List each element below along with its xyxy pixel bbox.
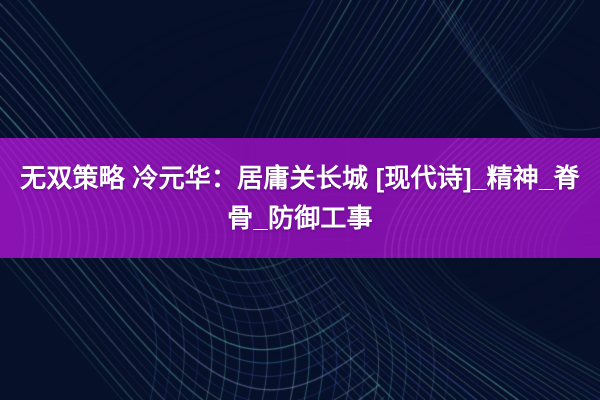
page-title-line-1: 无双策略 冷元华：居庸关长城 [现代诗]_精神_脊 <box>20 158 580 198</box>
title-band: 无双策略 冷元华：居庸关长城 [现代诗]_精神_脊 骨_防御工事 <box>0 138 600 258</box>
page-title-line-2: 骨_防御工事 <box>227 198 373 238</box>
page-title: 无双策略 冷元华：居庸关长城 [现代诗]_精神_脊 骨_防御工事 <box>0 138 600 258</box>
banner-image: 无双策略 冷元华：居庸关长城 [现代诗]_精神_脊 骨_防御工事 <box>0 0 600 400</box>
